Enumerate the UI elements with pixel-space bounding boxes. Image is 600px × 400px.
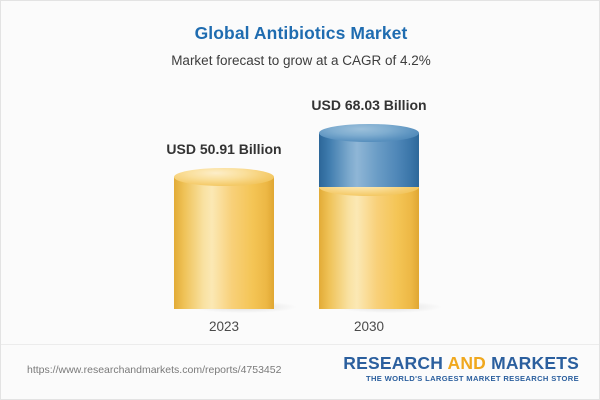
brand-logo[interactable]: RESEARCH AND MARKETS THE WORLD'S LARGEST… [343,353,579,384]
chart-plot-area: USD 50.91 Billion 2023 USD 68.03 Billion [1,1,600,346]
bar-cap-growth-2030 [319,124,419,142]
bar-segment-base-2023 [174,177,274,309]
footer-bar: https://www.researchandmarkets.com/repor… [1,344,600,399]
logo-word-and: AND [443,353,491,373]
bar-segment-base-2030 [319,187,419,309]
logo-word-markets: MARKETS [491,353,579,373]
bar-cap-base-2023 [174,168,274,186]
source-url[interactable]: https://www.researchandmarkets.com/repor… [27,364,281,376]
bar-category-label-2030: 2030 [259,319,479,334]
logo-tagline: THE WORLD'S LARGEST MARKET RESEARCH STOR… [343,373,579,384]
logo-word-research: RESEARCH [343,353,443,373]
logo-wordmark: RESEARCH AND MARKETS [343,353,579,373]
bar-value-label-2023: USD 50.91 Billion [114,141,334,157]
bar-value-label-2030: USD 68.03 Billion [259,97,479,113]
infographic-card: Global Antibiotics Market Market forecas… [0,0,600,400]
